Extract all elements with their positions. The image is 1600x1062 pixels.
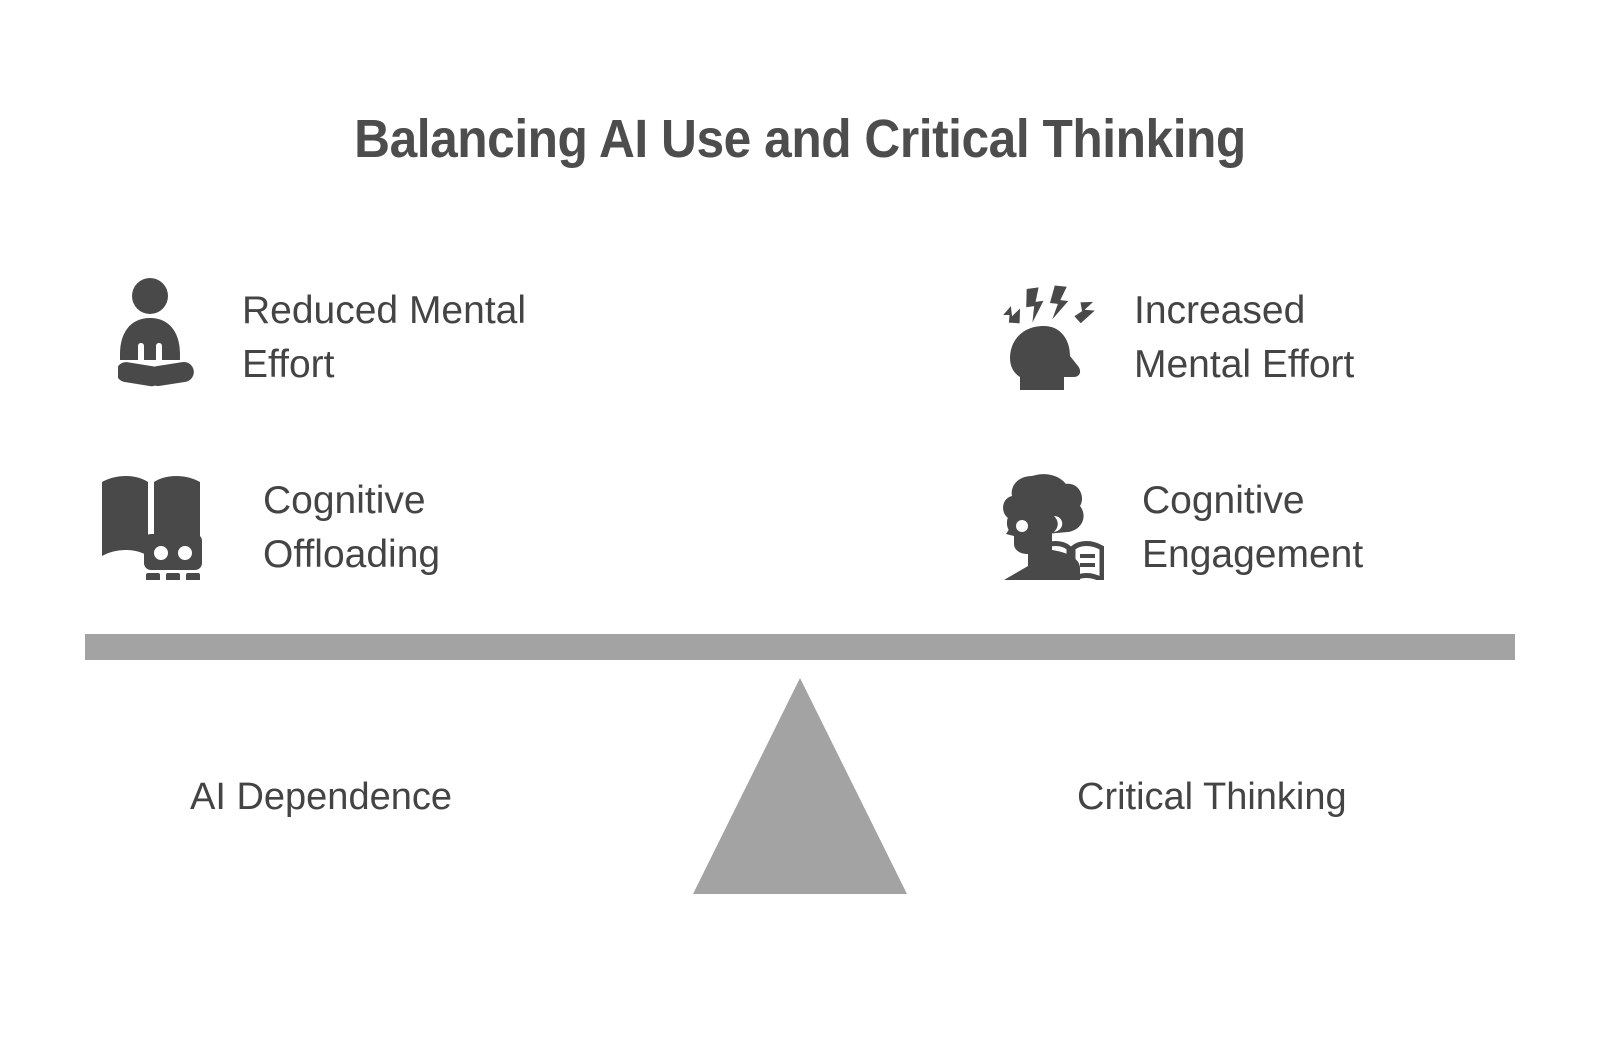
balance-beam [85, 634, 1515, 660]
person-reading-book-icon [992, 468, 1104, 585]
feature-label: Increased Mental Effort [1134, 284, 1354, 392]
feature-reduced-mental-effort: Reduced Mental Effort [118, 278, 526, 393]
label-ai-dependence: AI Dependence [190, 776, 452, 819]
fulcrum-triangle [680, 670, 920, 902]
feature-label: Reduced Mental Effort [242, 284, 526, 392]
label-critical-thinking: Critical Thinking [1077, 776, 1347, 819]
head-lightning-bolts-icon [998, 278, 1098, 395]
feature-label: Cognitive Offloading [263, 474, 440, 582]
feature-increased-mental-effort: Increased Mental Effort [998, 278, 1354, 395]
book-robot-icon [96, 468, 216, 585]
feature-cognitive-engagement: Cognitive Engagement [992, 468, 1363, 585]
feature-cognitive-offloading: Cognitive Offloading [96, 468, 440, 585]
seated-relaxed-person-icon [118, 278, 194, 393]
diagram-canvas: Balancing AI Use and Critical Thinking R… [0, 0, 1600, 1062]
page-title: Balancing AI Use and Critical Thinking [64, 108, 1536, 170]
feature-label: Cognitive Engagement [1142, 474, 1363, 582]
